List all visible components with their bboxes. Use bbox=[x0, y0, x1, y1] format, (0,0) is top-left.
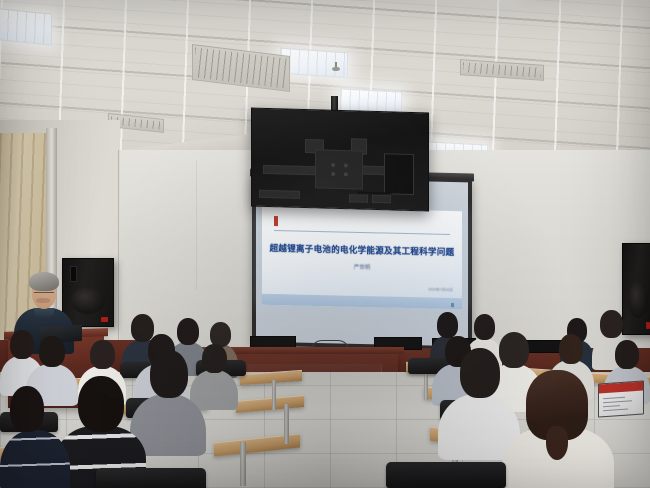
slide-title: 超越锂离子电池的电化学能源及其工程科学问题 bbox=[262, 242, 462, 259]
wall-seam bbox=[196, 160, 197, 290]
presenter-glasses bbox=[34, 292, 54, 297]
presenter-collar bbox=[34, 308, 54, 318]
ceiling-light-panel bbox=[0, 6, 52, 46]
lecture-hall-photo: 超越锂离子电池的电化学能源及其工程科学问题 严世明 2024年7月20日 bbox=[0, 0, 650, 488]
slide-rule-line bbox=[274, 230, 450, 235]
sprinkler-head bbox=[332, 62, 340, 72]
audience-member-foreground bbox=[502, 370, 614, 488]
audience-member-foreground bbox=[0, 386, 70, 488]
slide-author: 严世明 bbox=[262, 261, 462, 274]
chair-back bbox=[386, 462, 506, 488]
chair-back bbox=[96, 468, 206, 488]
desk-leg bbox=[240, 442, 246, 486]
desk-leg bbox=[424, 374, 428, 400]
slide-date: 2024年7月20日 bbox=[428, 288, 453, 294]
presentation-slide: 超越锂离子电池的电化学能源及其工程科学问题 严世明 2024年7月20日 bbox=[262, 207, 462, 310]
display-cable bbox=[358, 162, 399, 194]
slide-accent-mark bbox=[274, 216, 278, 226]
ceiling-mounted-display bbox=[251, 108, 429, 212]
wall-seam bbox=[118, 150, 119, 345]
vesa-bracket bbox=[315, 149, 363, 189]
presenter-hair bbox=[29, 272, 59, 291]
desk-leg bbox=[284, 404, 289, 444]
desk-leg bbox=[272, 380, 276, 410]
